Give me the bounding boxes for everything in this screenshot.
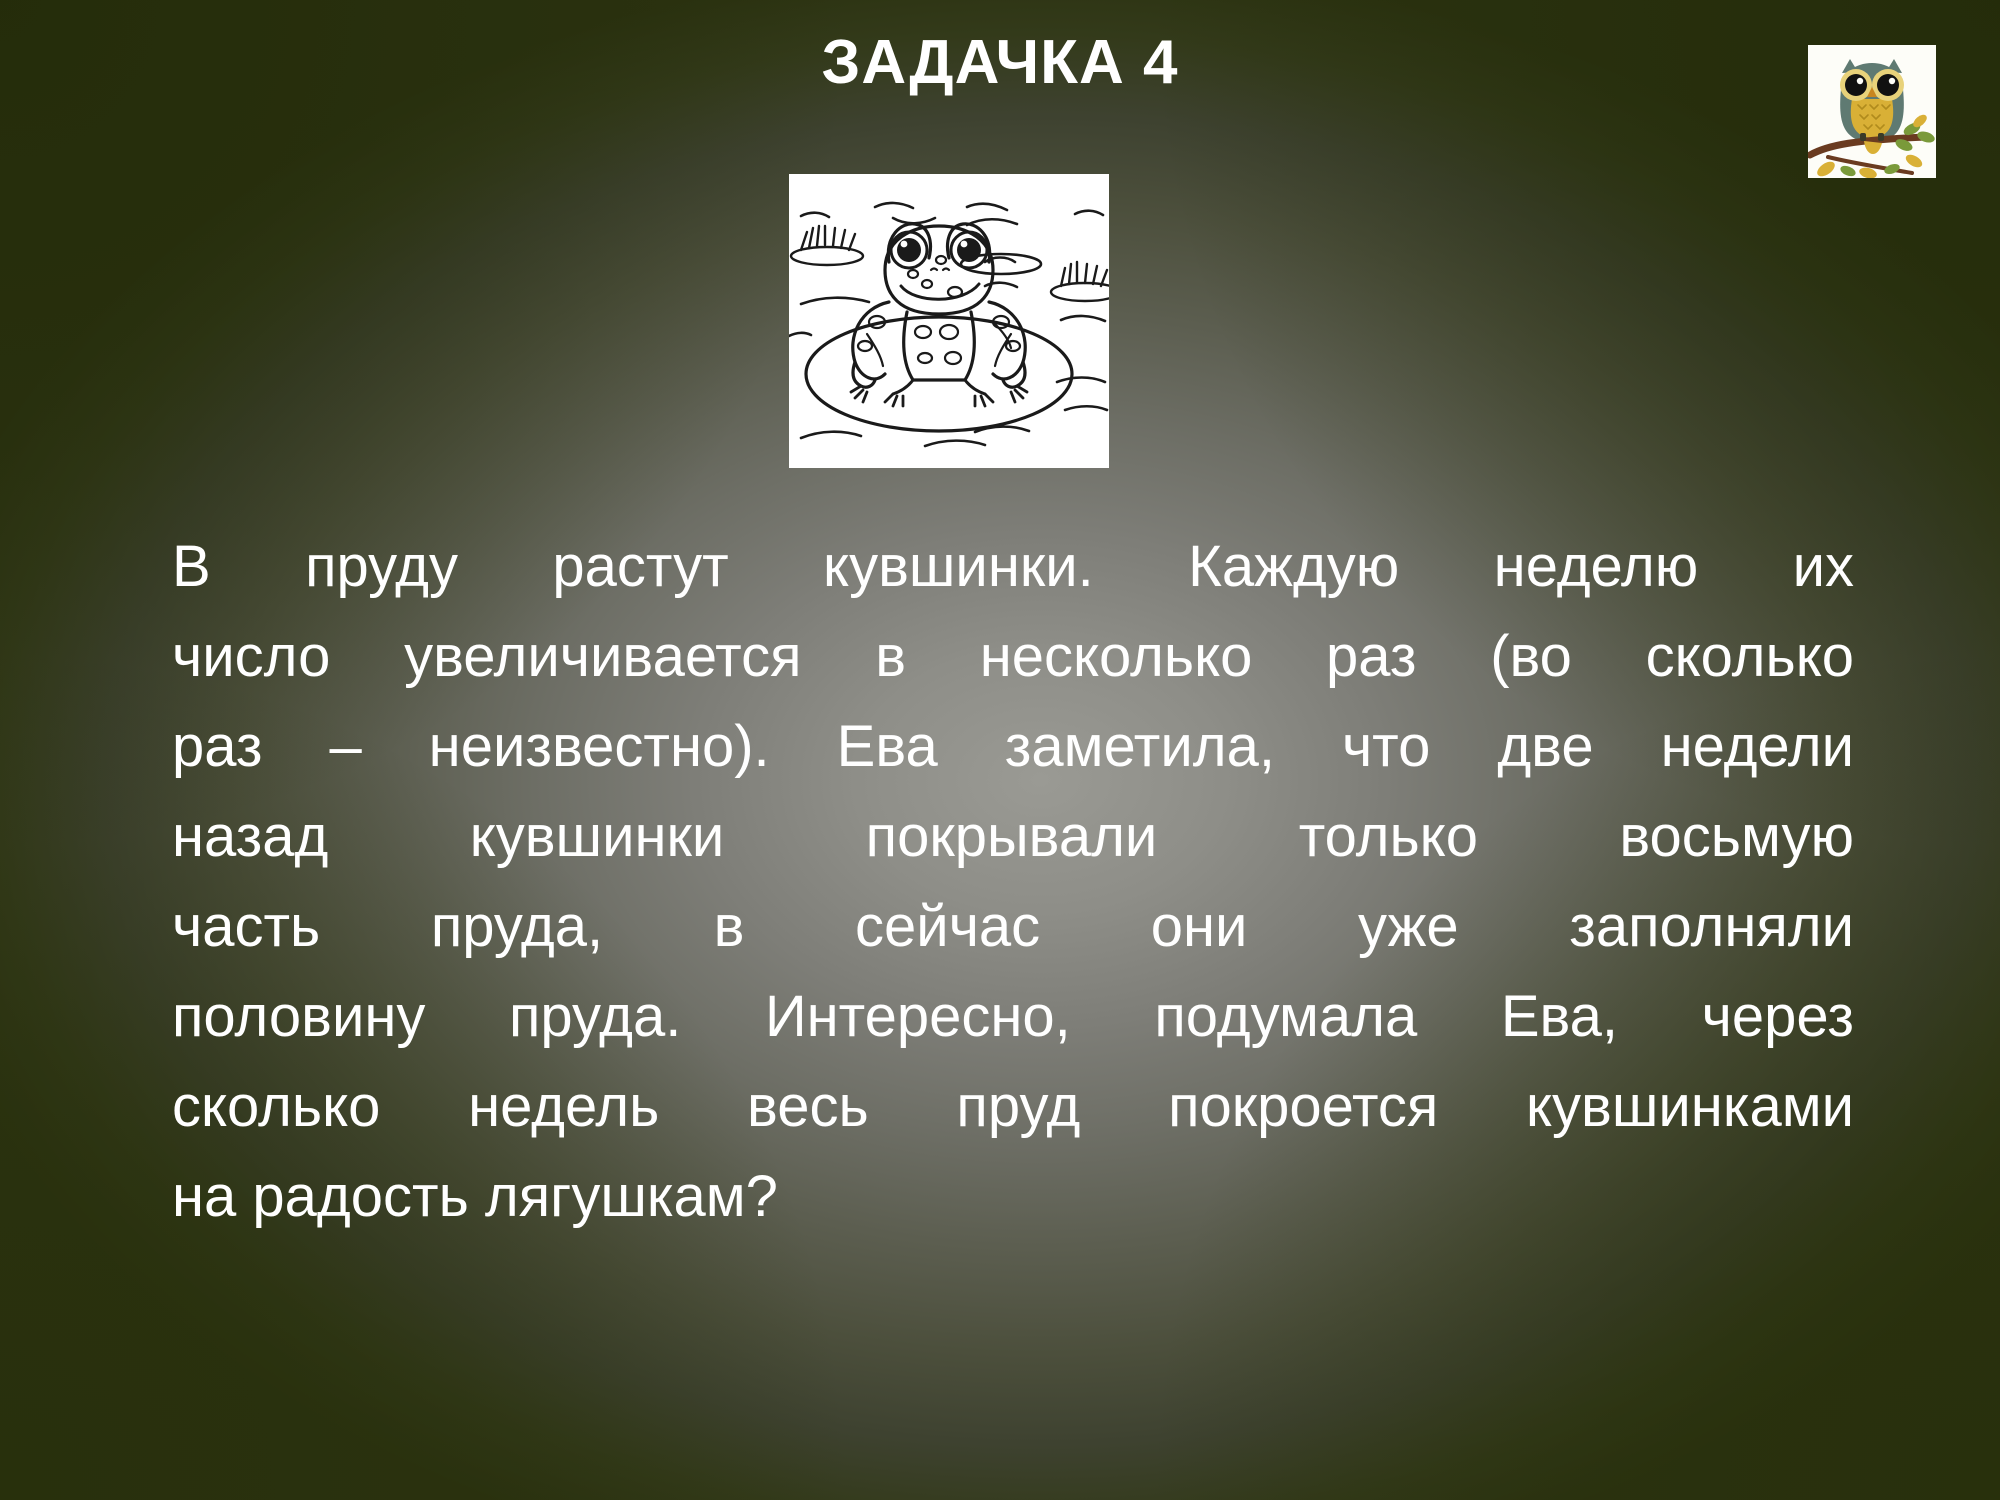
body-line: половину пруда. Интересно, подумала Ева,… (172, 972, 1854, 1062)
page-title: ЗАДАЧКА 4 (250, 30, 1750, 95)
frog-icon (789, 174, 1109, 468)
body-line: число увеличивается в несколько раз (во … (172, 612, 1854, 702)
body-line: часть пруда, в сейчас они уже заполняли (172, 882, 1854, 972)
body-line: раз – неизвестно). Ева заметила, что две… (172, 702, 1854, 792)
body-line: на радость лягушкам? (172, 1152, 1854, 1242)
body-line: В пруду растут кувшинки. Каждую неделю и… (172, 522, 1854, 612)
body-line: назад кувшинки покрывали только восьмую (172, 792, 1854, 882)
owl-logo (1808, 45, 1936, 178)
owl-icon (1808, 45, 1936, 178)
problem-statement: В пруду растут кувшинки. Каждую неделю и… (172, 522, 1854, 1242)
frog-on-lilypad-illustration (789, 174, 1109, 468)
body-line: сколько недель весь пруд покроется кувши… (172, 1062, 1854, 1152)
slide-canvas: ЗАДАЧКА 4 (0, 0, 2000, 1500)
